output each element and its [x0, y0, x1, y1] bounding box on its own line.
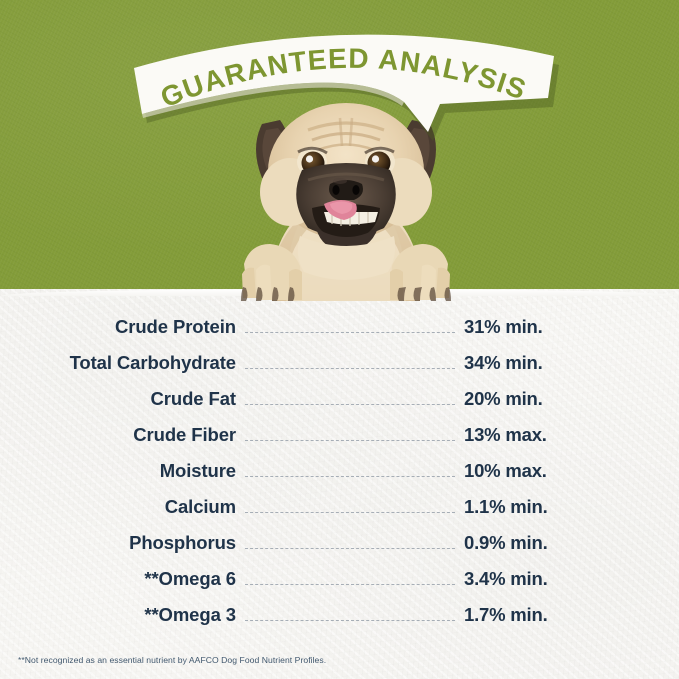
aafco-footnote: **Not recognized as an essential nutrien…: [18, 655, 326, 665]
nutrient-value: 31% min.: [464, 316, 584, 338]
dotted-leader: [245, 440, 455, 441]
nutrient-value: 3.4% min.: [464, 568, 584, 590]
table-row: Moisture 10% max.: [0, 460, 679, 496]
nutrient-value: 20% min.: [464, 388, 584, 410]
nutrient-label: Phosphorus: [52, 532, 236, 554]
nutrient-label: Calcium: [52, 496, 236, 518]
dotted-leader: [245, 584, 455, 585]
nutrient-label: **Omega 6: [52, 568, 236, 590]
nutrient-value: 13% max.: [464, 424, 584, 446]
guaranteed-analysis-poster: GUARANTEED ANALYSIS Crude Protein 31% mi…: [0, 0, 679, 679]
dotted-leader: [245, 404, 455, 405]
dotted-leader: [245, 476, 455, 477]
dotted-leader: [245, 332, 455, 333]
nutrient-label: **Omega 3: [52, 604, 236, 626]
guaranteed-analysis-banner: GUARANTEED ANALYSIS: [128, 34, 560, 139]
nutrient-value: 10% max.: [464, 460, 584, 482]
nutrient-label: Crude Fat: [52, 388, 236, 410]
dotted-leader: [245, 512, 455, 513]
nutrient-value: 1.1% min.: [464, 496, 584, 518]
table-row: Phosphorus 0.9% min.: [0, 532, 679, 568]
table-row: Crude Fat 20% min.: [0, 388, 679, 424]
table-row: **Omega 3 1.7% min.: [0, 604, 679, 640]
nutrient-label: Crude Protein: [52, 316, 236, 338]
guaranteed-analysis-table: Crude Protein 31% min. Total Carbohydrat…: [0, 316, 679, 640]
nutrient-label: Total Carbohydrate: [52, 352, 236, 374]
table-row: Total Carbohydrate 34% min.: [0, 352, 679, 388]
table-row: Crude Protein 31% min.: [0, 316, 679, 352]
nutrient-value: 34% min.: [464, 352, 584, 374]
nutrient-value: 1.7% min.: [464, 604, 584, 626]
dotted-leader: [245, 620, 455, 621]
table-row: Calcium 1.1% min.: [0, 496, 679, 532]
nutrient-label: Crude Fiber: [52, 424, 236, 446]
nutrient-label: Moisture: [52, 460, 236, 482]
nutrient-value: 0.9% min.: [464, 532, 584, 554]
table-row: **Omega 6 3.4% min.: [0, 568, 679, 604]
dotted-leader: [245, 368, 455, 369]
dotted-leader: [245, 548, 455, 549]
table-row: Crude Fiber 13% max.: [0, 424, 679, 460]
